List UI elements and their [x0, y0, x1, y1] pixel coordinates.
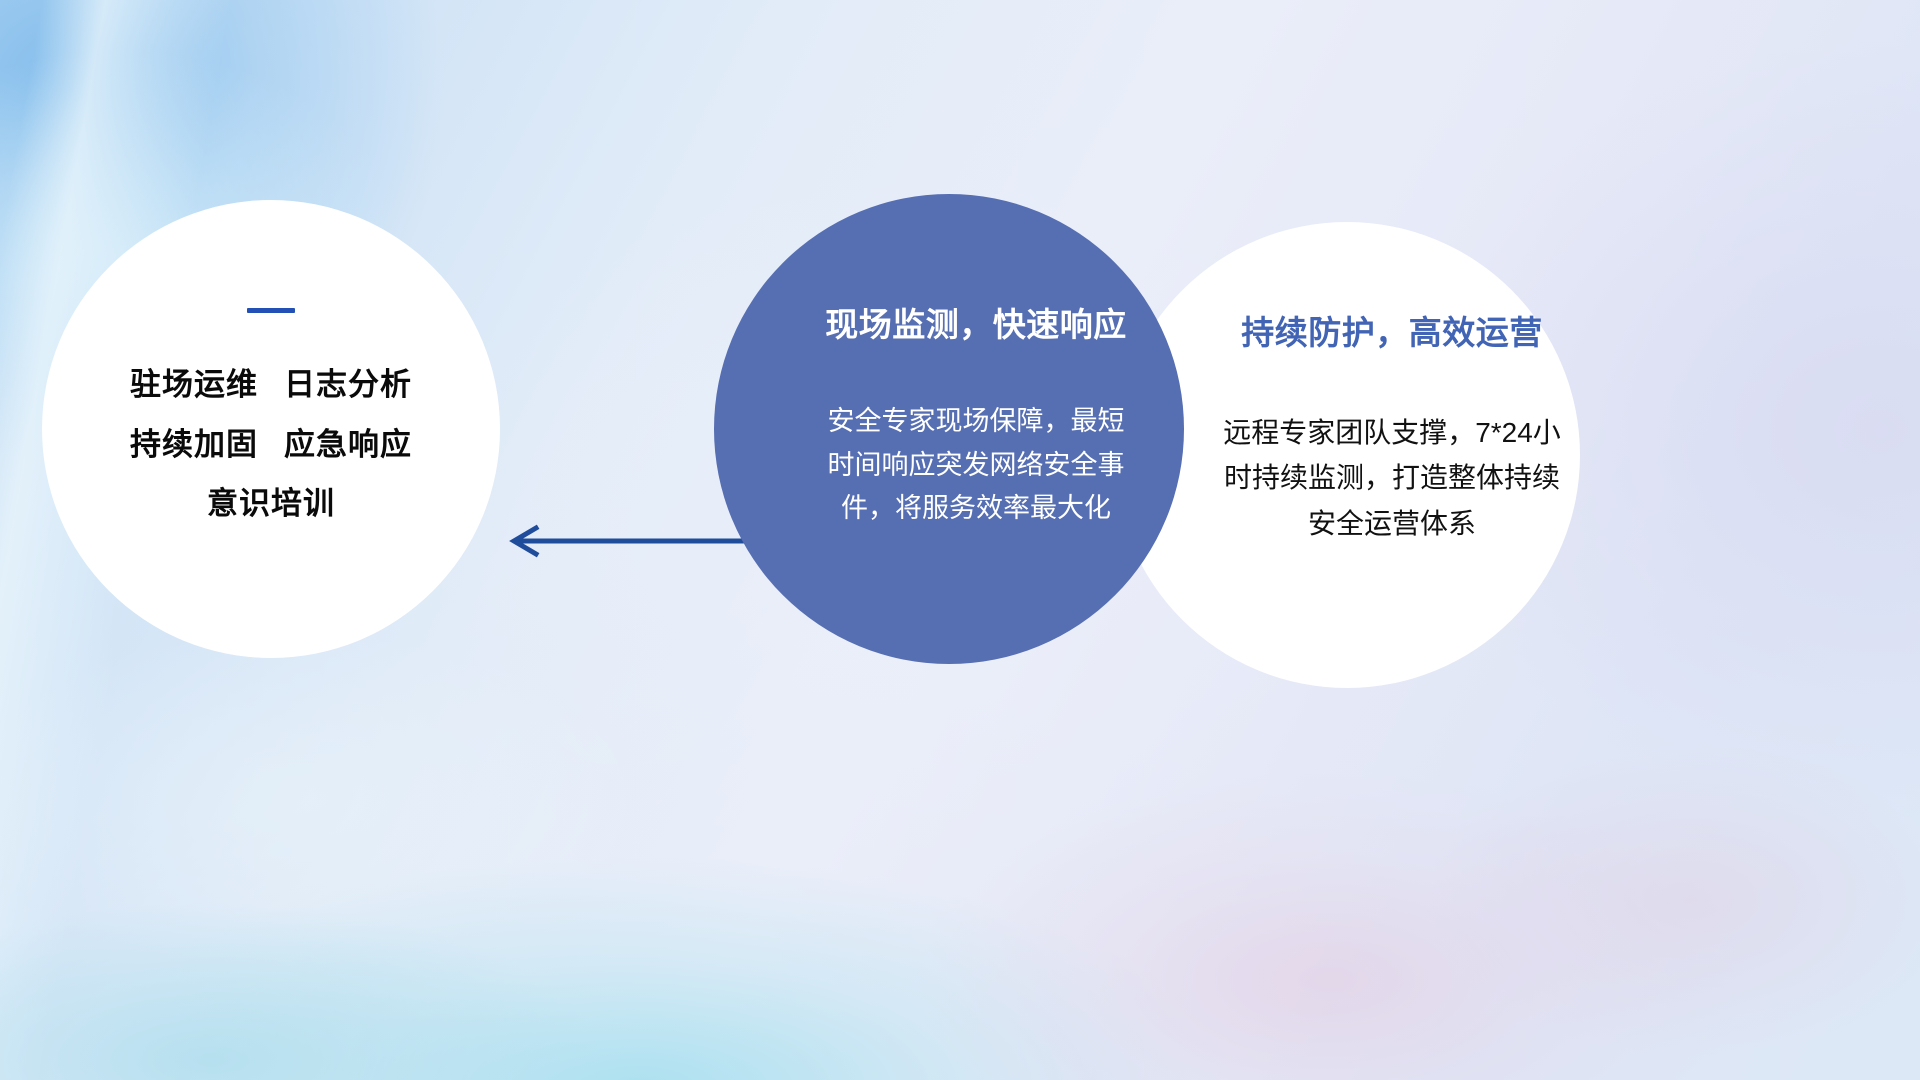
list-item: 意识培训 — [130, 474, 412, 534]
keyword-label: 持续加固 — [130, 427, 258, 462]
keyword-label: 驻场运维 — [130, 367, 258, 402]
keyword-label: 日志分析 — [284, 367, 412, 402]
list-item: 持续加固应急响应 — [130, 415, 412, 475]
keyword-label: 意识培训 — [207, 486, 335, 521]
list-item: 驻场运维日志分析 — [130, 355, 412, 415]
left-capability-circle[interactable]: 驻场运维日志分析 持续加固应急响应 意识培训 — [42, 200, 500, 658]
title-divider-rule — [247, 308, 295, 313]
slide-canvas: 驻场运维日志分析 持续加固应急响应 意识培训 持续防护，高效运营 远程专家团队支… — [0, 0, 1920, 1080]
right-feature-circle[interactable]: 持续防护，高效运营 远程专家团队支撑，7*24小时持续监测，打造整体持续安全运营… — [1114, 222, 1580, 688]
middle-circle-title: 现场监测，快速响应 — [825, 298, 1127, 346]
middle-circle-description: 安全专家现场保障，最短时间响应突发网络安全事件，将服务效率最大化 — [826, 400, 1126, 531]
middle-feature-circle[interactable]: 现场监测，快速响应 安全专家现场保障，最短时间响应突发网络安全事件，将服务效率最… — [714, 194, 1184, 664]
capability-keyword-list: 驻场运维日志分析 持续加固应急响应 意识培训 — [130, 355, 412, 534]
keyword-label: 应急响应 — [284, 427, 412, 462]
right-circle-title: 持续防护，高效运营 — [1241, 306, 1543, 354]
right-circle-description: 远程专家团队支撑，7*24小时持续监测，打造整体持续安全运营体系 — [1217, 410, 1567, 546]
